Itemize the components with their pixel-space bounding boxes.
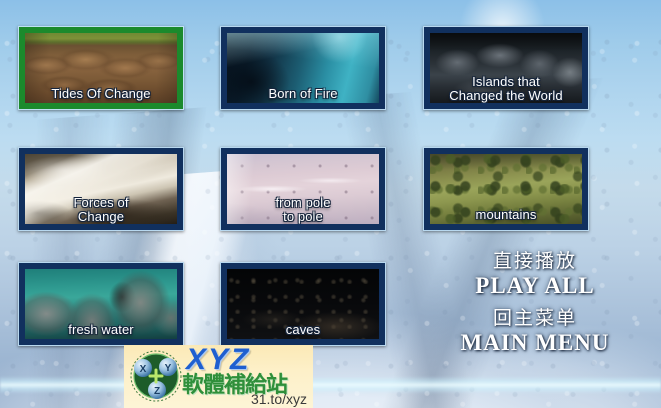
chapter-tile-forces-of-change[interactable]: Forces ofChange: [18, 147, 184, 231]
chapter-tile-tides-of-change[interactable]: Tides Of Change: [18, 26, 184, 110]
dvd-menu-screen: Tides Of ChangeBorn of FireIslands thatC…: [0, 0, 661, 408]
volcanic-rock-iguanas-thumbnail: [430, 33, 582, 103]
chapter-thumbnail: fresh water: [25, 269, 177, 339]
chapter-tile-born-of-fire[interactable]: Born of Fire: [220, 26, 386, 110]
svg-text:Z: Z: [154, 386, 160, 397]
chapter-tile-from-pole-to-pole[interactable]: from poleto pole: [220, 147, 386, 231]
watermark-url: 31.to/xyz: [251, 391, 307, 407]
chapter-thumbnail: from poleto pole: [227, 154, 379, 224]
xyz-logo-icon: X Y Z: [128, 348, 184, 404]
waterfall-mist-thumbnail: [25, 154, 177, 224]
green-scrub-slope-thumbnail: [430, 154, 582, 224]
chapter-thumbnail: mountains: [430, 154, 582, 224]
dark-cave-interior-thumbnail: [227, 269, 379, 339]
pale-pink-ice-field-thumbnail: [227, 154, 379, 224]
chapter-thumbnail: Tides Of Change: [25, 33, 177, 103]
underwater-light-shafts-thumbnail: [227, 33, 379, 103]
play-all-label-en: PLAY ALL: [430, 273, 640, 299]
teal-water-boulders-thumbnail: [25, 269, 177, 339]
xyz-watermark: X Y Z XYZ 軟體補給站 31.to/xyz: [124, 345, 313, 408]
chapter-tile-fresh-water[interactable]: fresh water: [18, 262, 184, 346]
chapter-tile-caves[interactable]: caves: [220, 262, 386, 346]
layered-brown-rock-thumbnail: [25, 33, 177, 103]
svg-text:X: X: [140, 364, 147, 375]
svg-text:Y: Y: [165, 363, 172, 374]
main-menu-button[interactable]: 回主菜单 MAIN MENU: [430, 307, 640, 356]
main-menu-label-cn: 回主菜单: [430, 307, 640, 330]
chapter-thumbnail: Forces ofChange: [25, 154, 177, 224]
main-menu-label-en: MAIN MENU: [430, 330, 640, 356]
play-all-label-cn: 直接播放: [430, 250, 640, 273]
chapter-thumbnail: Islands thatChanged the World: [430, 33, 582, 103]
chapter-thumbnail: caves: [227, 269, 379, 339]
chapter-tile-islands-that-changed-the-world[interactable]: Islands thatChanged the World: [423, 26, 589, 110]
chapter-tile-mountains[interactable]: mountains: [423, 147, 589, 231]
background-light-streak: [0, 376, 661, 394]
play-all-button[interactable]: 直接播放 PLAY ALL: [430, 250, 640, 299]
chapter-thumbnail: Born of Fire: [227, 33, 379, 103]
